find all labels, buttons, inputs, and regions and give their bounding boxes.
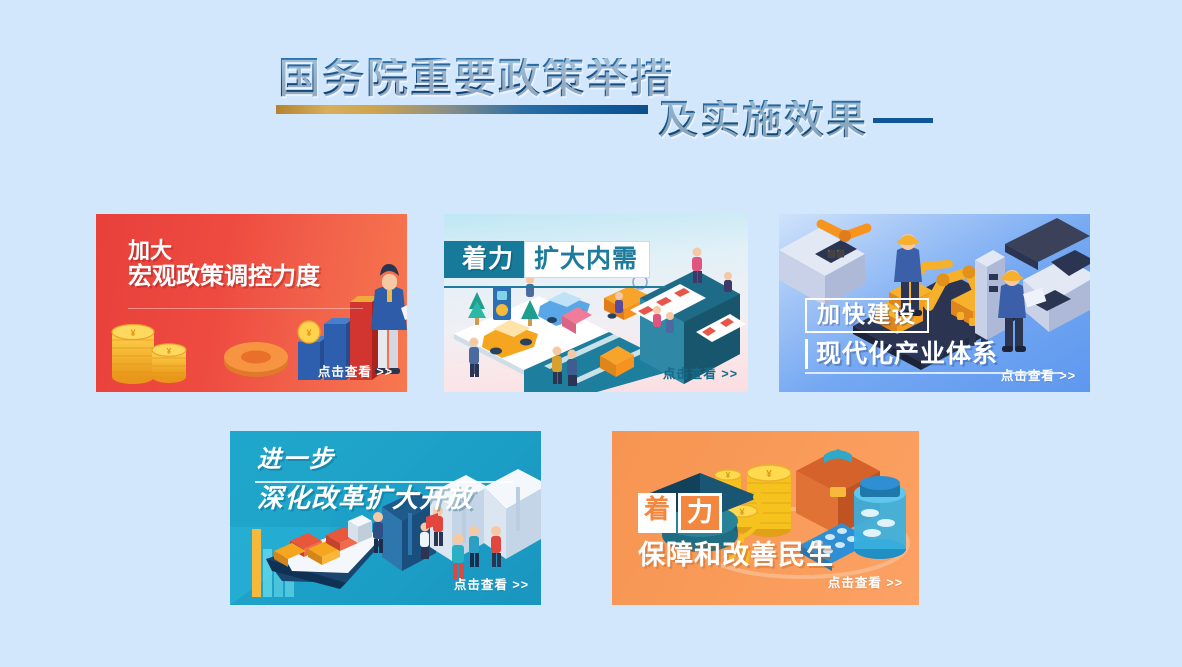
card-3-cta-link[interactable]: 点击查看 >> [1001, 365, 1076, 384]
card-modern-industrial-system[interactable]: ⬛⬛ [779, 214, 1090, 392]
card-3-bracket-accent [805, 339, 808, 369]
page-subtitle: 及实施效果 [658, 100, 868, 140]
card-4-title-line-1: 进一步 [257, 447, 473, 474]
title-underline-gradient [276, 105, 648, 114]
card-3-title-row-b: 现代化产业体系 [805, 339, 998, 369]
svg-text:¥: ¥ [766, 469, 772, 480]
card-3-title-box-a: 加快建设 [805, 298, 929, 333]
card-1-title-line-1: 加大 [128, 239, 320, 264]
card-1-title: 加大 宏观政策调控力度 [128, 239, 320, 291]
svg-text:¥: ¥ [167, 347, 172, 356]
card-4-title-line-2: 深化改革扩大开放 [257, 484, 473, 513]
page-header: 国务院重要政策举措 及实施效果 [0, 0, 1182, 190]
svg-text:¥: ¥ [726, 471, 731, 480]
title-dash-accent [873, 118, 933, 123]
card-5-title-char-1: 着 [638, 493, 676, 533]
card-5-title: 着 力 保障和改善民生 [638, 493, 834, 570]
card-1-divider [128, 308, 363, 309]
card-macro-policy[interactable]: ¥ ¥ ¥ [96, 214, 407, 392]
svg-text:⬛⬛: ⬛⬛ [827, 249, 845, 258]
card-2-title-box-a: 着力 [444, 241, 524, 278]
card-5-cta-link[interactable]: 点击查看 >> [828, 572, 903, 591]
card-3-title-box-b: 现代化产业体系 [816, 340, 998, 368]
card-2-divider [444, 286, 666, 288]
card-expand-domestic-demand[interactable]: 着力 扩大内需 点击查看 >> [444, 214, 748, 392]
svg-text:¥: ¥ [130, 328, 135, 338]
card-deepen-reform-opening-up[interactable]: 进一步 深化改革扩大开放 点击查看 >> [230, 431, 541, 605]
card-2-title-box-b: 扩大内需 [524, 241, 650, 278]
card-4-cta-link[interactable]: 点击查看 >> [454, 574, 529, 593]
page-title: 国务院重要政策举措 [278, 58, 674, 100]
card-1-cta-link[interactable]: 点击查看 >> [318, 361, 393, 380]
card-2-title: 着力 扩大内需 [444, 241, 650, 278]
card-safeguard-improve-livelihood[interactable]: ¥ ¥ ¥ [612, 431, 919, 605]
card-5-title-row-a: 着 力 [638, 493, 834, 533]
card-1-title-line-2: 宏观政策调控力度 [128, 264, 320, 291]
card-4-title: 进一步 深化改革扩大开放 [257, 447, 473, 513]
card-2-cta-link[interactable]: 点击查看 >> [663, 363, 738, 382]
card-5-title-char-2: 力 [678, 493, 722, 533]
card-5-title-line-2: 保障和改善民生 [638, 540, 834, 570]
card-3-title: 加快建设 现代化产业体系 [805, 298, 998, 369]
svg-text:¥: ¥ [306, 328, 311, 338]
